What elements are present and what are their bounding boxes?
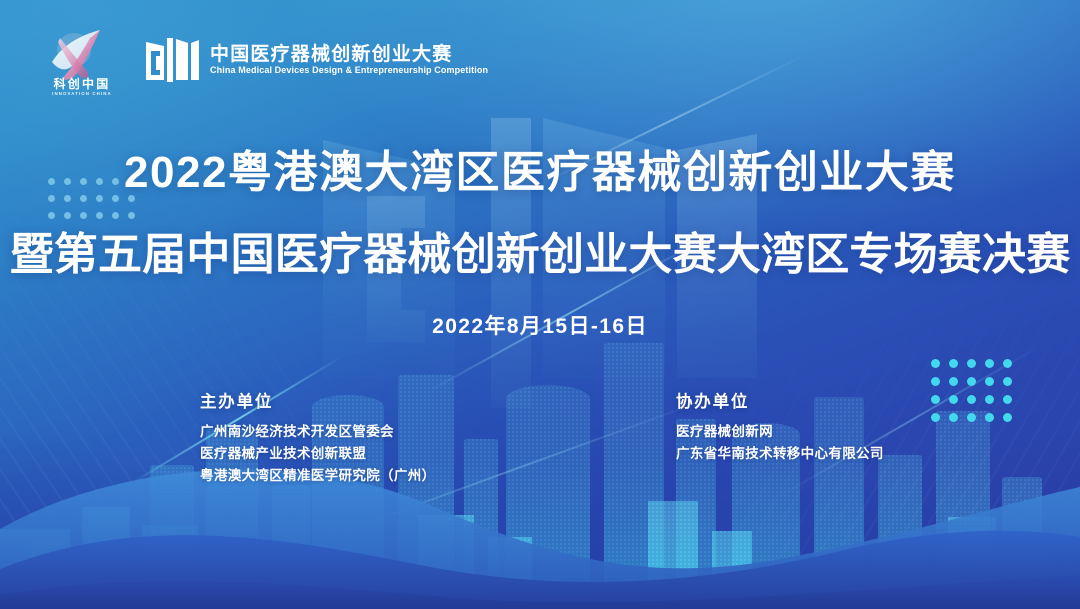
organizer-block-coorganizer: 协办单位 医疗器械创新网 广东省华南技术转移中心有限公司 — [676, 388, 884, 465]
organizer-name-list: 广州南沙经济技术开发区管委会 医疗器械产业技术创新联盟 粤港澳大湾区精准医学研究… — [200, 421, 435, 487]
headline-line-1: 2022粤港澳大湾区医疗器械创新创业大赛 — [0, 136, 1080, 200]
svg-text:INNOVATION CHINA: INNOVATION CHINA — [52, 91, 112, 96]
open-book-mark-icon — [144, 34, 200, 86]
organizer-role-label: 协办单位 — [676, 388, 884, 412]
organizer-name-list: 医疗器械创新网 广东省华南技术转移中心有限公司 — [676, 421, 884, 465]
organizer-name: 广州南沙经济技术开发区管委会 — [200, 421, 435, 443]
organizer-name: 医疗器械产业技术创新联盟 — [200, 443, 435, 465]
event-date: 2022年8月15日-16日 — [0, 310, 1080, 340]
competition-logo: 中国医疗器械创新创业大赛 China Medical Devices Desig… — [144, 34, 494, 86]
headline-line-2: 暨第五届中国医疗器械创新创业大赛大湾区专场赛决赛 — [0, 218, 1080, 282]
competition-name-en: China Medical Devices Design & Entrepren… — [210, 66, 488, 75]
competition-logo-text: 中国医疗器械创新创业大赛 China Medical Devices Desig… — [210, 45, 494, 75]
organizer-name: 医疗器械创新网 — [676, 421, 884, 443]
logo-bar: 科创中国 INNOVATION CHINA — [38, 24, 494, 96]
innovation-china-logo: 科创中国 INNOVATION CHINA — [38, 24, 126, 96]
organizer-role-label: 主办单位 — [200, 388, 435, 412]
organizer-block-host: 主办单位 广州南沙经济技术开发区管委会 医疗器械产业技术创新联盟 粤港澳大湾区精… — [200, 388, 435, 487]
organizer-name: 广东省华南技术转移中心有限公司 — [676, 443, 884, 465]
organizer-name: 粤港澳大湾区精准医学研究院（广州） — [200, 465, 435, 487]
poster-content: 科创中国 INNOVATION CHINA — [0, 0, 1080, 609]
svg-text:科创中国: 科创中国 — [54, 76, 111, 91]
poster-canvas: 科创中国 INNOVATION CHINA — [0, 0, 1080, 609]
competition-name-cn: 中国医疗器械创新创业大赛 — [210, 45, 494, 64]
